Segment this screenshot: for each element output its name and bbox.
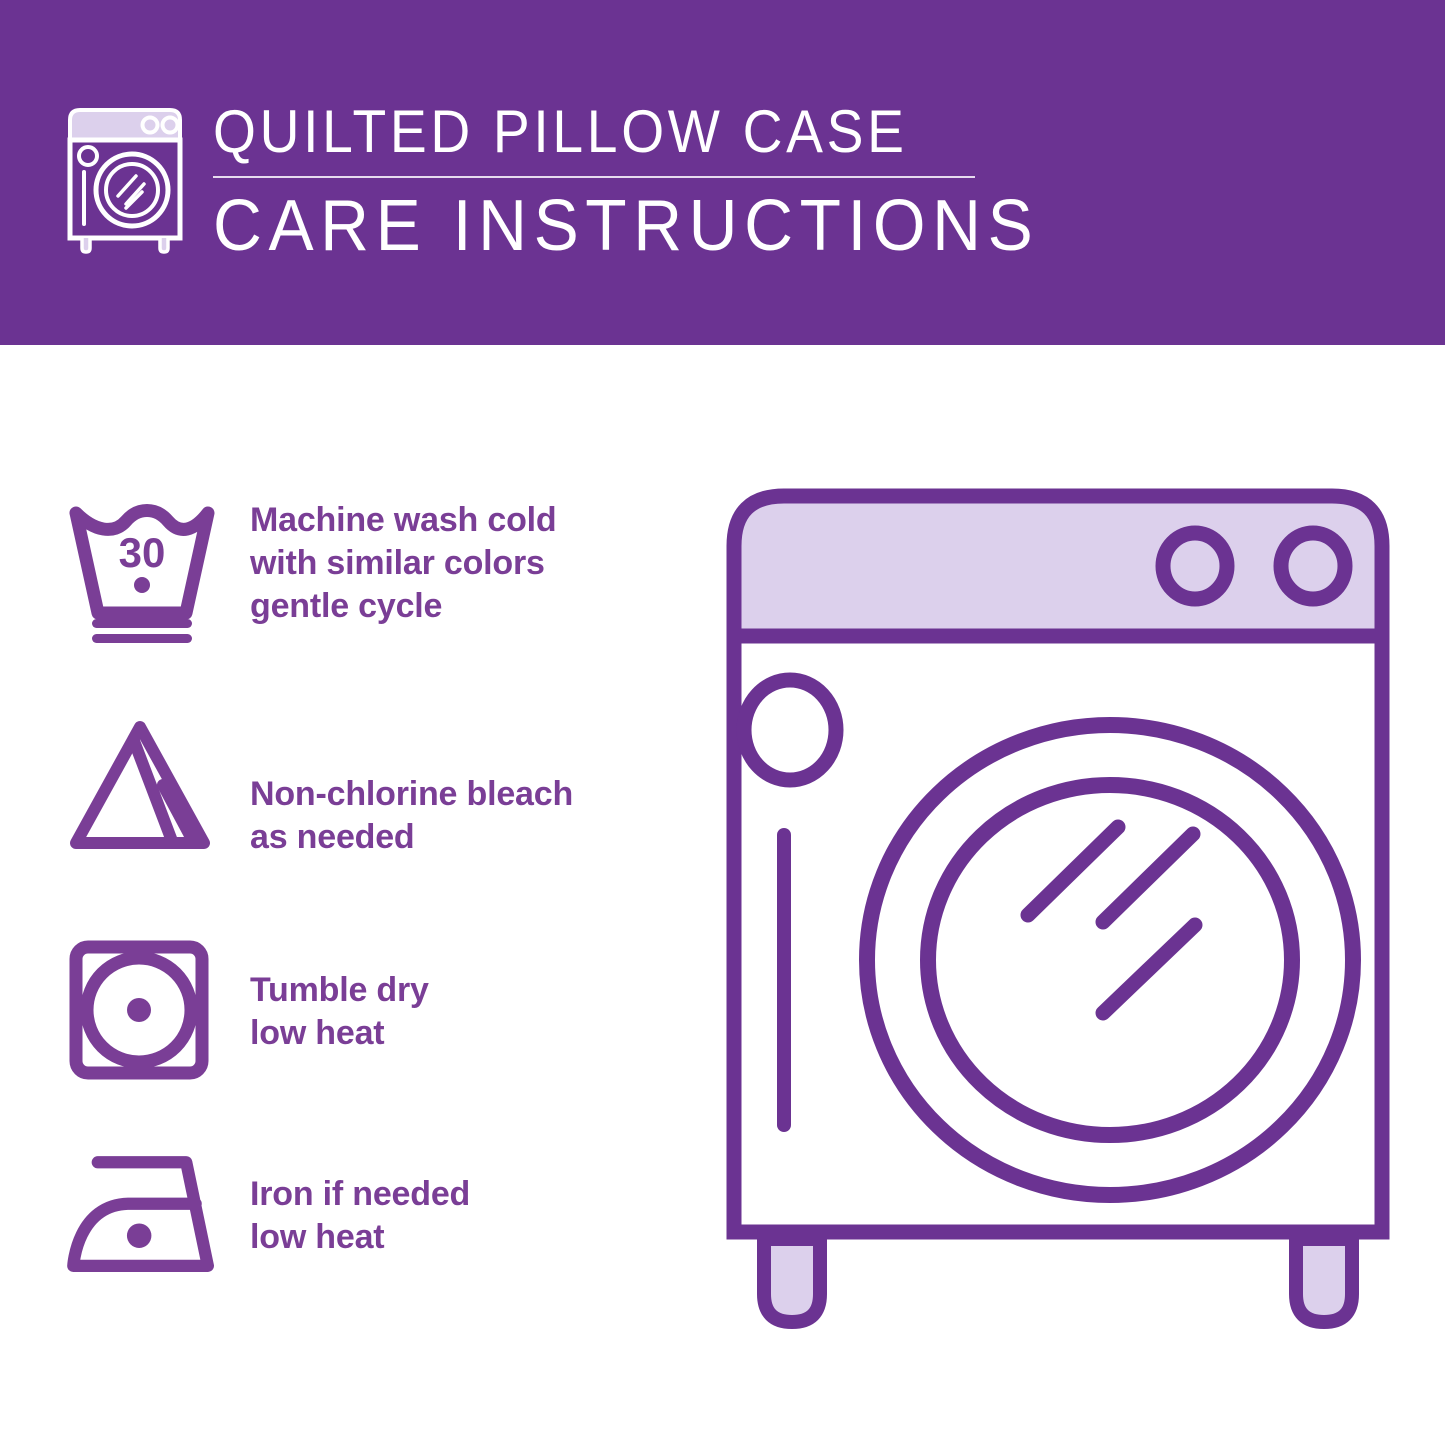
care-label: Iron if needed low heat xyxy=(250,1145,470,1259)
iron-low-heat-icon xyxy=(62,1145,222,1285)
care-instructions-page: QUILTED PILLOW CASE CARE INSTRUCTIONS 30… xyxy=(0,0,1445,1445)
care-row: Tumble dry low heat xyxy=(0,935,700,1085)
care-label: Tumble dry low heat xyxy=(250,935,429,1055)
care-label: Non-chlorine bleach as needed xyxy=(250,715,573,859)
title-divider xyxy=(213,176,975,178)
washing-machine-illustration xyxy=(718,470,1398,1370)
care-row: Iron if needed low heat xyxy=(0,1145,700,1285)
care-row: 30 Machine wash cold with similar colors… xyxy=(0,495,700,645)
page-title: QUILTED PILLOW CASE xyxy=(213,96,940,168)
page-header: QUILTED PILLOW CASE CARE INSTRUCTIONS xyxy=(0,0,1445,345)
care-row: Non-chlorine bleach as needed xyxy=(0,715,700,859)
page-subtitle: CARE INSTRUCTIONS xyxy=(213,184,956,268)
tumble-dry-low-heat-icon xyxy=(62,935,222,1085)
wash-tub-30-gentle-icon: 30 xyxy=(62,495,222,645)
header-text-block: QUILTED PILLOW CASE CARE INSTRUCTIONS xyxy=(213,96,1003,268)
svg-text:30: 30 xyxy=(119,529,166,576)
non-chlorine-bleach-triangle-icon xyxy=(62,715,222,855)
washing-machine-icon xyxy=(64,104,186,254)
care-label: Machine wash cold with similar colors ge… xyxy=(250,495,556,628)
